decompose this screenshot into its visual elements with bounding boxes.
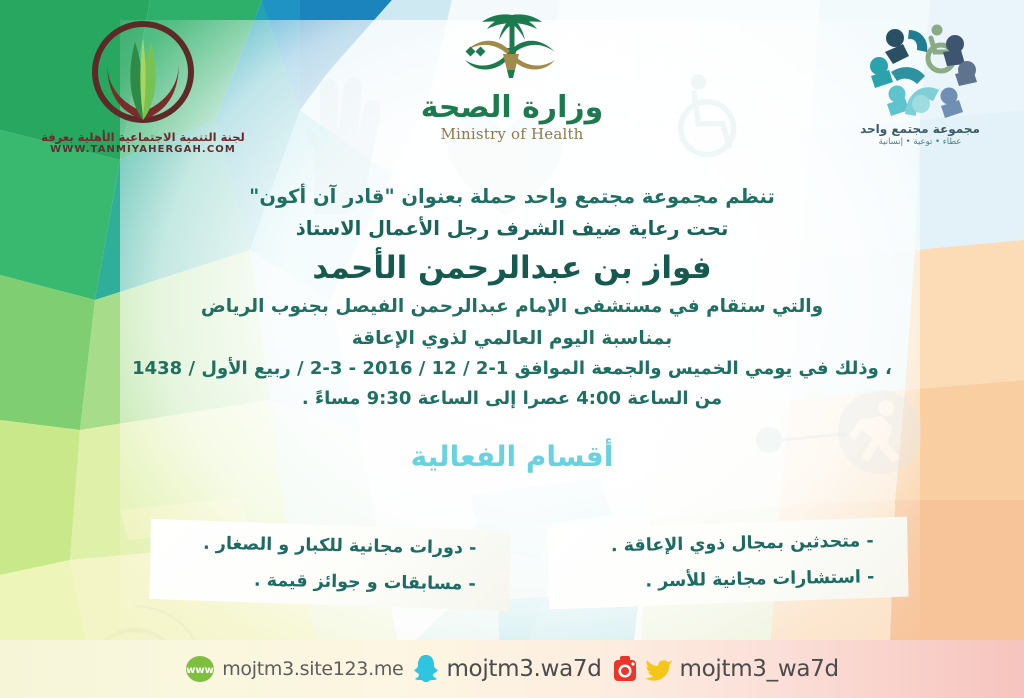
- footer-snapchat[interactable]: mojtm3.wa7d: [413, 654, 601, 684]
- www-globe-icon: www: [185, 655, 215, 683]
- card-right-item-2: - استشارات مجانية للأسر .: [576, 560, 875, 602]
- venue-line: والتي ستقام في مستشفى الإمام عبدالرحمن ا…: [0, 291, 1024, 323]
- card-left-item-1: - دورات مجانية للكبار و الصغار .: [178, 526, 477, 567]
- palm-and-swords-icon: [437, 8, 587, 94]
- logo-tanmiyah-ergah: لجنة التنمية الاجتماعية الأهلية بعرفة WW…: [18, 16, 268, 155]
- logo-ministry-of-health: وزارة الصحة Ministry of Health: [408, 8, 616, 143]
- sections-card-left: - دورات مجانية للكبار و الصغار . - مسابق…: [149, 519, 510, 611]
- plant-in-circle-icon: [83, 16, 203, 128]
- card-left-item-2: - مسابقات و جوائز قيمة .: [177, 562, 476, 603]
- people-circle-wheelchair-icon: [845, 8, 995, 126]
- left-logo-name: لجنة التنمية الاجتماعية الأهلية بعرفة: [18, 130, 268, 144]
- sections-title: أقسام الفعالية: [0, 440, 1024, 473]
- website-handle: mojtm3.site123.me: [222, 658, 403, 680]
- poster-canvas: لجنة التنمية الاجتماعية الأهلية بعرفة WW…: [0, 0, 1024, 698]
- instagram-camera-icon: [612, 655, 638, 683]
- twitter-bird-icon: [645, 656, 673, 682]
- twitter-handle: mojtm3_wa7d: [680, 656, 839, 682]
- sections-card-right: - متحدثين بمجال ذوي الإعاقة . - استشارات…: [547, 517, 909, 610]
- date-line: ، وذلك في يومي الخميس والجمعة الموافق 1-…: [0, 353, 1024, 385]
- right-logo-tagline: عطاء • توعية • إنسانية: [832, 137, 1008, 147]
- footer-social-twitter[interactable]: mojtm3_wa7d: [612, 655, 839, 683]
- logo-one-community: مجموعة مجتمع واحد عطاء • توعية • إنسانية: [832, 8, 1008, 147]
- moh-name-arabic: وزارة الصحة: [408, 92, 616, 124]
- right-logo-name: مجموعة مجتمع واحد: [832, 122, 1008, 136]
- svg-text:www: www: [186, 665, 214, 676]
- snapchat-handle: mojtm3.wa7d: [446, 656, 601, 682]
- footer-contact-bar: www mojtm3.site123.me mojtm3.wa7d: [0, 640, 1024, 698]
- footer-website[interactable]: www mojtm3.site123.me: [185, 655, 403, 683]
- announcement-text-block: تنظم مجموعة مجتمع واحد حملة بعنوان "قادر…: [0, 182, 1024, 413]
- snapchat-ghost-icon: [413, 654, 439, 684]
- left-logo-url: WWW.TANMIYAHERGAH.COM: [18, 144, 268, 155]
- campaign-line: تنظم مجموعة مجتمع واحد حملة بعنوان "قادر…: [0, 182, 1024, 212]
- card-right-item-1: - متحدثين بمجال ذوي الإعاقة .: [575, 524, 874, 566]
- occasion-line: بمناسبة اليوم العالمي لذوي الإعاقة: [0, 324, 1024, 354]
- time-line: من الساعة 4:00 عصرا إلى الساعة 9:30 مساء…: [0, 385, 1024, 413]
- honoree-name: فواز بن عبدالرحمن الأحمد: [0, 246, 1024, 291]
- patron-line: تحت رعاية ضيف الشرف رجل الأعمال الاستاذ: [0, 212, 1024, 246]
- moh-name-english: Ministry of Health: [408, 125, 616, 143]
